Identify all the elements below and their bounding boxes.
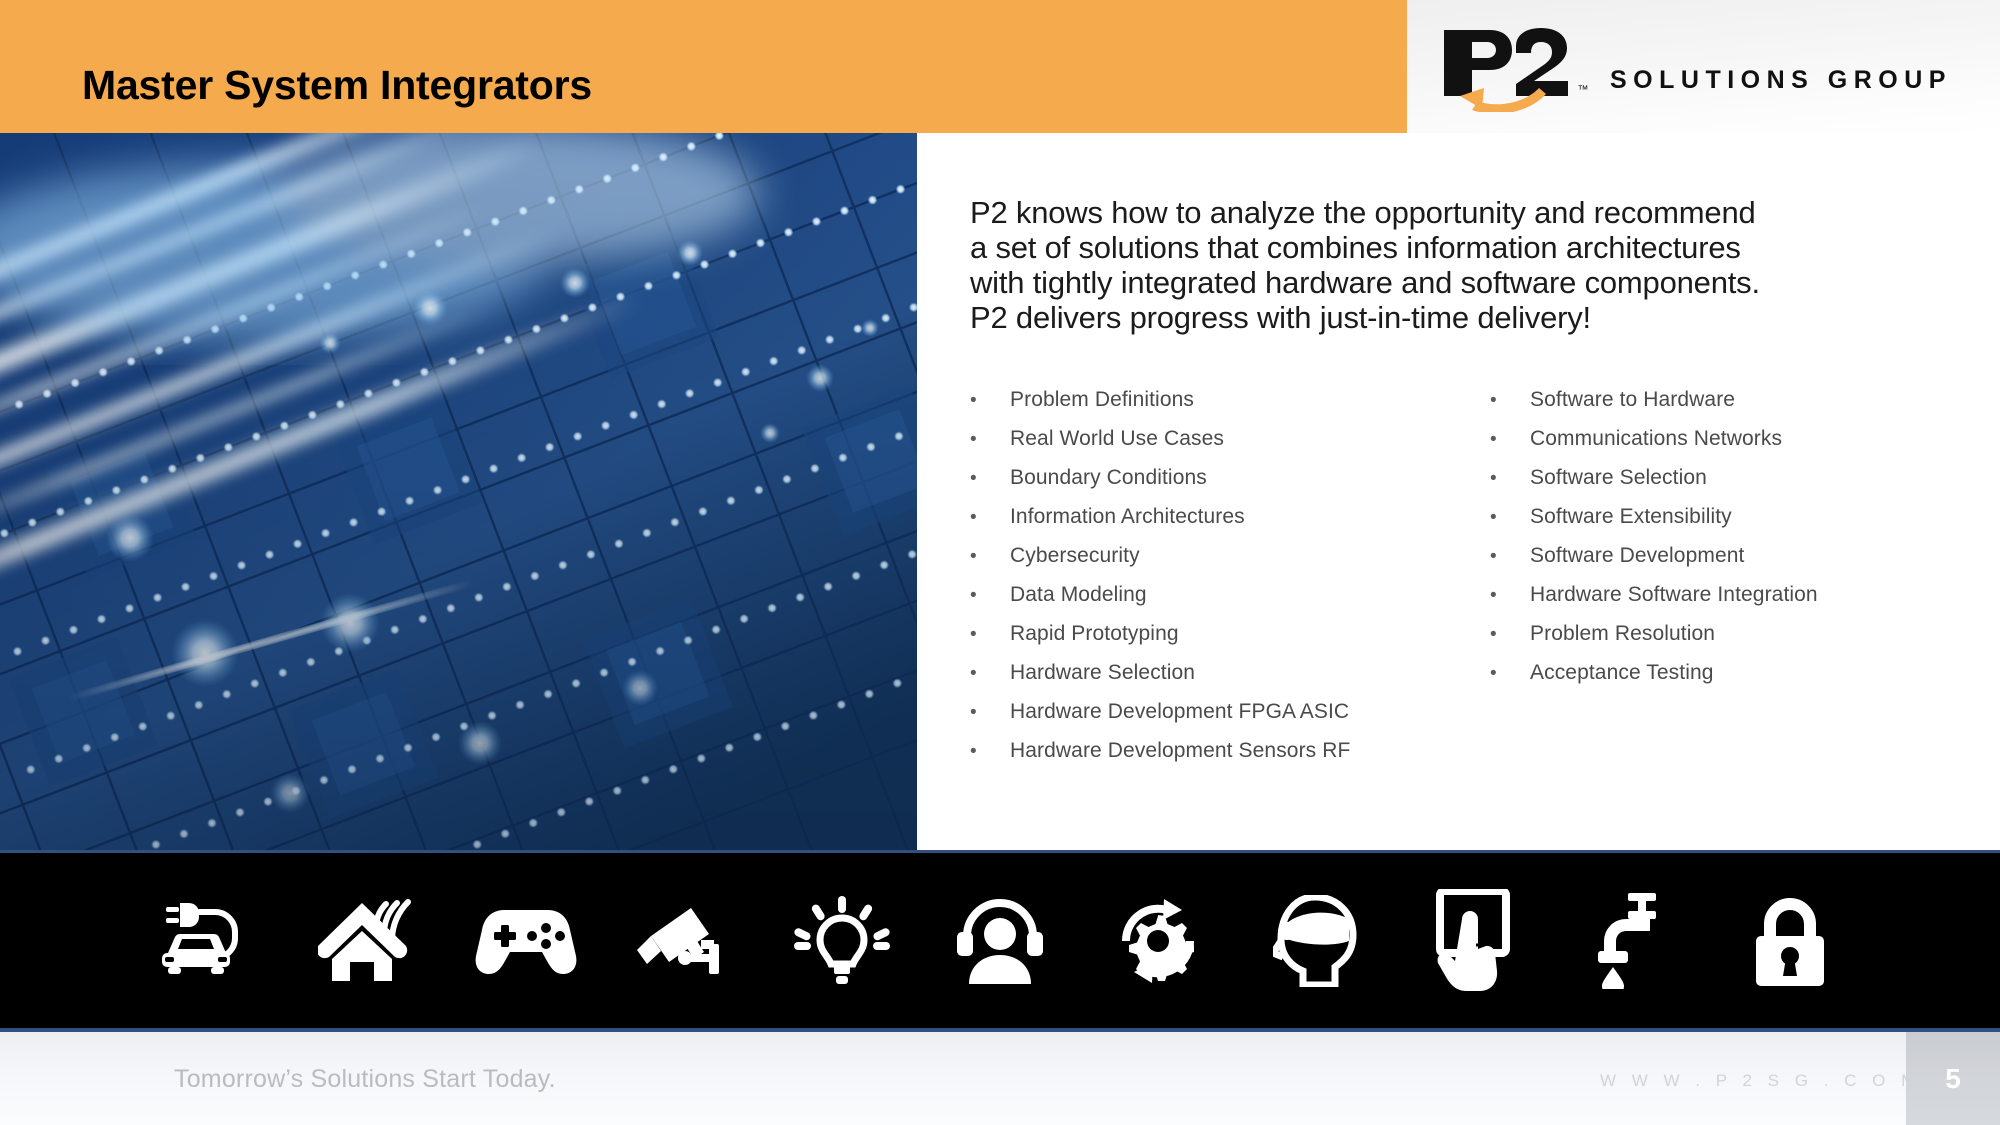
list-item-label: Data Modeling bbox=[1010, 583, 1147, 607]
slide-root: Master System Integrators ™ SOLUTIONS GR… bbox=[0, 0, 2000, 1125]
list-item-label: Software Selection bbox=[1530, 466, 1707, 490]
bullet-icon: • bbox=[970, 586, 1010, 605]
list-item-label: Hardware Development Sensors RF bbox=[1010, 739, 1350, 763]
list-item: • Software Extensibility bbox=[1490, 505, 1990, 544]
bullet-icon: • bbox=[970, 547, 1010, 566]
list-item-label: Communications Networks bbox=[1530, 427, 1782, 451]
page-number: 5 bbox=[1906, 1032, 2000, 1125]
capability-list-right: • Software to Hardware • Communications … bbox=[1490, 388, 1990, 778]
list-item: • Communications Networks bbox=[1490, 427, 1990, 466]
bullet-icon: • bbox=[970, 742, 1010, 761]
bullet-icon: • bbox=[970, 391, 1010, 410]
smart-home-wifi-icon bbox=[308, 886, 428, 996]
list-item: • Boundary Conditions bbox=[970, 466, 1490, 505]
bullet-icon: • bbox=[1490, 469, 1530, 488]
list-item-label: Acceptance Testing bbox=[1530, 661, 1714, 685]
bullet-icon: • bbox=[1490, 430, 1530, 449]
bullet-icon: • bbox=[1490, 547, 1530, 566]
list-item: • Hardware Development FPGA ASIC bbox=[970, 700, 1490, 739]
list-item: • Software to Hardware bbox=[1490, 388, 1990, 427]
logo-wordmark: SOLUTIONS GROUP bbox=[1610, 66, 1952, 95]
bullet-icon: • bbox=[1490, 625, 1530, 644]
list-item: • Software Selection bbox=[1490, 466, 1990, 505]
list-item: • Software Development bbox=[1490, 544, 1990, 583]
lead-line-1: P2 knows how to analyze the opportunity … bbox=[970, 195, 1970, 230]
icon-strip-frame bbox=[0, 850, 2000, 1032]
footer-website: W W W . P 2 S G . C O M bbox=[1600, 1071, 1921, 1091]
p2-solutions-group-logo: ™ SOLUTIONS GROUP bbox=[1442, 26, 1952, 108]
list-item-label: Boundary Conditions bbox=[1010, 466, 1207, 490]
bullet-icon: • bbox=[970, 430, 1010, 449]
list-item: • Problem Definitions bbox=[970, 388, 1490, 427]
list-item-label: Hardware Development FPGA ASIC bbox=[1010, 700, 1349, 724]
game-controller-icon bbox=[466, 886, 586, 996]
list-item: • Hardware Selection bbox=[970, 661, 1490, 700]
list-item: • Hardware Development Sensors RF bbox=[970, 739, 1490, 778]
vr-headset-icon bbox=[1256, 886, 1376, 996]
list-item: • Data Modeling bbox=[970, 583, 1490, 622]
content-panel: P2 knows how to analyze the opportunity … bbox=[917, 133, 2000, 853]
capability-lists: • Problem Definitions • Real World Use C… bbox=[970, 388, 1990, 778]
list-item-label: Problem Definitions bbox=[1010, 388, 1194, 412]
list-item: • Acceptance Testing bbox=[1490, 661, 1990, 700]
list-item-label: Hardware Software Integration bbox=[1530, 583, 1818, 607]
security-camera-icon bbox=[624, 886, 744, 996]
capability-list-left: • Problem Definitions • Real World Use C… bbox=[970, 388, 1490, 778]
list-item-label: Hardware Selection bbox=[1010, 661, 1195, 685]
lead-line-2: a set of solutions that combines informa… bbox=[970, 230, 1970, 265]
list-item-label: Software Development bbox=[1530, 544, 1744, 568]
trademark-symbol: ™ bbox=[1578, 84, 1590, 96]
lead-line-3: with tightly integrated hardware and sof… bbox=[970, 265, 1970, 300]
bullet-icon: • bbox=[970, 469, 1010, 488]
list-item-label: Real World Use Cases bbox=[1010, 427, 1224, 451]
list-item: • Rapid Prototyping bbox=[970, 622, 1490, 661]
list-item-label: Cybersecurity bbox=[1010, 544, 1140, 568]
list-item-label: Software to Hardware bbox=[1530, 388, 1735, 412]
padlock-icon bbox=[1730, 886, 1850, 996]
list-item: • Cybersecurity bbox=[970, 544, 1490, 583]
bullet-icon: • bbox=[970, 703, 1010, 722]
light-bulb-icon bbox=[782, 886, 902, 996]
list-item-label: Software Extensibility bbox=[1530, 505, 1732, 529]
list-item: • Problem Resolution bbox=[1490, 622, 1990, 661]
footer-tagline: Tomorrow’s Solutions Start Today. bbox=[174, 1065, 556, 1094]
headset-support-icon bbox=[940, 886, 1060, 996]
bullet-icon: • bbox=[1490, 508, 1530, 527]
gear-cycle-icon bbox=[1098, 886, 1218, 996]
bullet-icon: • bbox=[1490, 391, 1530, 410]
icon-strip bbox=[0, 853, 2000, 1028]
lead-paragraph: P2 knows how to analyze the opportunity … bbox=[970, 195, 1970, 335]
list-item-label: Problem Resolution bbox=[1530, 622, 1715, 646]
page-title: Master System Integrators bbox=[82, 62, 592, 109]
electric-car-icon bbox=[150, 886, 270, 996]
logo-zone: ™ SOLUTIONS GROUP bbox=[1407, 0, 2000, 133]
list-item: • Hardware Software Integration bbox=[1490, 583, 1990, 622]
touchscreen-hand-icon bbox=[1414, 886, 1534, 996]
bullet-icon: • bbox=[970, 664, 1010, 683]
faucet-water-icon bbox=[1572, 886, 1692, 996]
bullet-icon: • bbox=[970, 508, 1010, 527]
bullet-icon: • bbox=[970, 625, 1010, 644]
circuit-board-photo bbox=[0, 133, 917, 853]
list-item-label: Rapid Prototyping bbox=[1010, 622, 1179, 646]
list-item: • Real World Use Cases bbox=[970, 427, 1490, 466]
bullet-icon: • bbox=[1490, 586, 1530, 605]
bullet-icon: • bbox=[1490, 664, 1530, 683]
lead-line-4: P2 delivers progress with just-in-time d… bbox=[970, 300, 1970, 335]
p2-logo-mark-icon: ™ bbox=[1442, 26, 1584, 108]
list-item: • Information Architectures bbox=[970, 505, 1490, 544]
page-number-block: 5 bbox=[1906, 1032, 2000, 1125]
list-item-label: Information Architectures bbox=[1010, 505, 1245, 529]
